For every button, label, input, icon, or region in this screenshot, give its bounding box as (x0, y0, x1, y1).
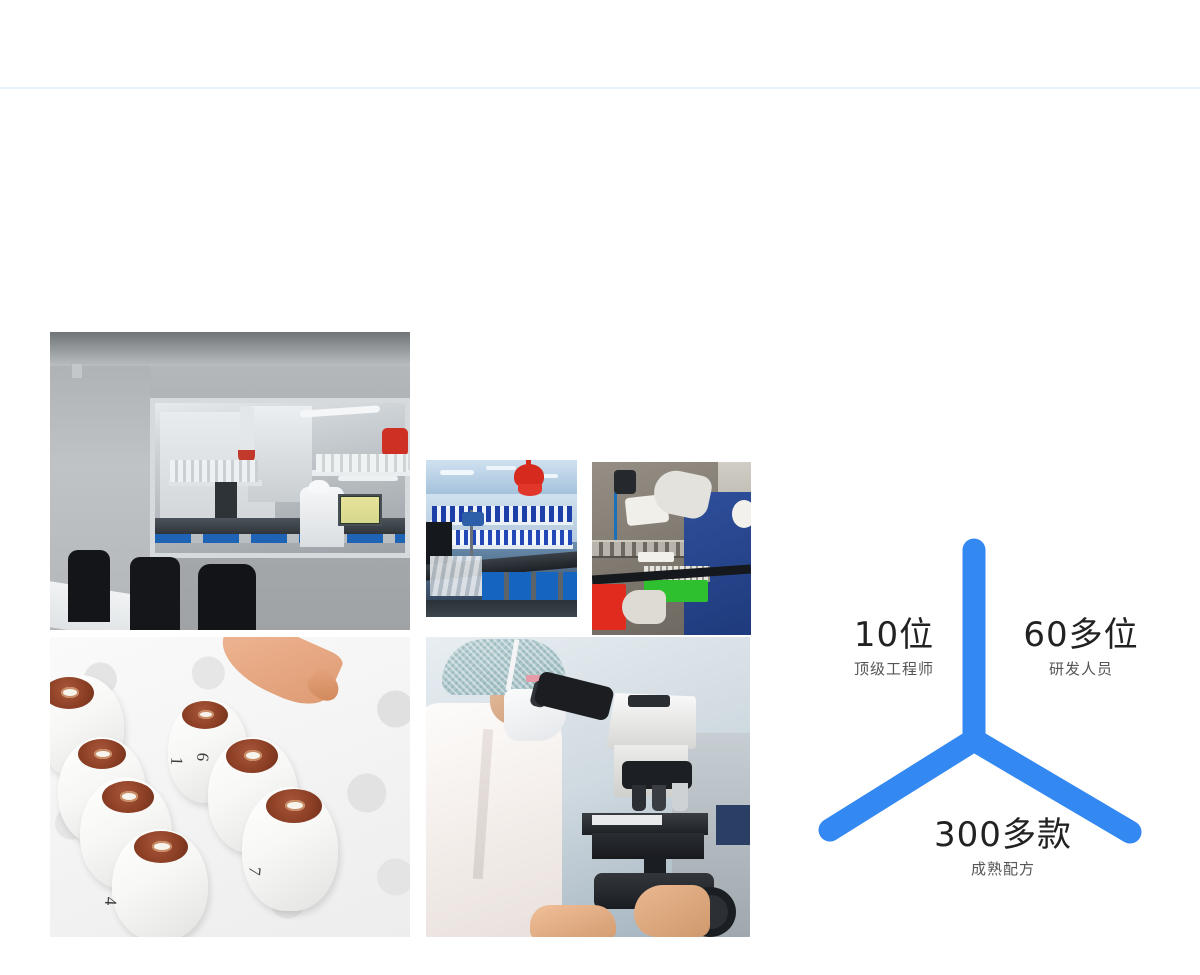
office-chair-1 (68, 550, 110, 622)
photo-microscope (426, 637, 750, 937)
stat-formulas: 300多款 成熟配方 (878, 818, 1128, 878)
photo-eggs: 1 6 4 7 (50, 637, 410, 937)
microscope-top-port (628, 695, 670, 707)
egg-6: 4 (112, 829, 208, 937)
red-valve (382, 428, 408, 456)
egg-7: 7 (242, 787, 338, 911)
stat-researchers-caption: 研发人员 (986, 660, 1176, 678)
page-root: 1 6 4 7 (0, 0, 1200, 975)
objective-lens-3 (672, 783, 688, 811)
respirator-mask (732, 500, 751, 528)
stat-researchers: 60多位 研发人员 (986, 618, 1176, 678)
egg-number-label: 7 (244, 866, 265, 877)
photo-layer-ceiling (50, 332, 410, 366)
stat-formulas-caption: 成熟配方 (878, 860, 1128, 878)
monitor-screen (341, 497, 379, 523)
researcher-hand-left (530, 905, 616, 937)
wall-switch (71, 363, 83, 379)
egg-candling-hole (134, 831, 188, 863)
stats-diagram: 10位 顶级工程师 60多位 研发人员 300多款 成熟配方 (800, 510, 1200, 930)
stat-engineers-caption: 顶级工程师 (814, 660, 974, 678)
red-fixture-cone (518, 484, 542, 496)
egg-number-label: 1 (166, 756, 186, 765)
egg-candling-hole (102, 781, 154, 813)
specimen-slide (592, 815, 662, 825)
objective-lens-2 (652, 785, 666, 811)
egg-candling-hole (50, 677, 94, 709)
stat-engineers: 10位 顶级工程师 (814, 618, 974, 678)
pipette-tip (614, 492, 617, 540)
stat-engineers-number: 10位 (814, 618, 974, 654)
reagent-bottles-left (170, 460, 258, 482)
stat-researchers-number: 60多位 (986, 618, 1176, 654)
photo-lab-window (50, 332, 410, 630)
egg-candling-hole (266, 789, 322, 823)
egg-candling-hole (226, 739, 278, 773)
photo-lab-bench (426, 460, 577, 617)
objective-lens-1 (632, 785, 646, 811)
egg-candling-hole (78, 739, 126, 769)
bench-blue-panels (155, 534, 405, 543)
lab-instrument (215, 482, 237, 522)
blue-reagent-bottles-lower (432, 530, 572, 545)
office-chair-3 (198, 564, 256, 630)
ceiling-light-1 (440, 470, 474, 475)
researcher-hand-right (634, 885, 710, 937)
red-tube-rack (592, 584, 626, 630)
ceiling-tube-light-2 (338, 476, 398, 481)
white-tray (638, 552, 674, 562)
lab-worker-cap (308, 480, 330, 493)
office-chair-2 (130, 557, 180, 630)
glassware-cluster (430, 556, 482, 596)
egg-number-label: 4 (100, 896, 120, 905)
floor (426, 600, 577, 617)
cabinet-blue-panel (716, 805, 750, 845)
top-divider (0, 87, 1200, 89)
blue-reagent-bottles-upper (432, 506, 572, 522)
pipette-head (614, 470, 636, 494)
photo-tube-racks (592, 462, 751, 635)
extraction-duct (240, 406, 254, 454)
egg-candling-hole (182, 701, 228, 729)
reagent-bottles-right (316, 454, 408, 472)
ceiling-light-2 (486, 466, 516, 470)
stat-formulas-number: 300多款 (878, 818, 1128, 854)
stand-clamp (462, 512, 484, 526)
gloved-hand-lower (622, 590, 666, 624)
